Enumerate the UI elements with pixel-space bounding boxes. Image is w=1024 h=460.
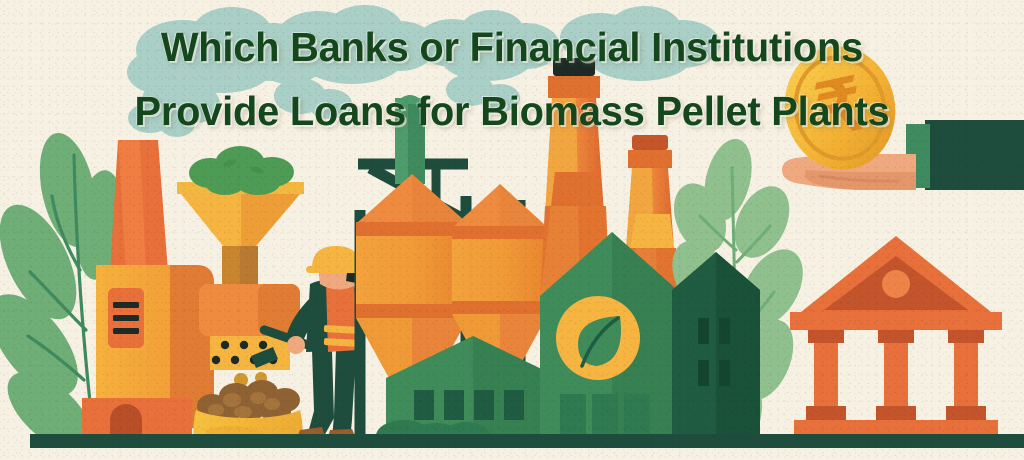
worker-hand (287, 336, 305, 354)
bank-emblem (882, 270, 910, 298)
bank-architrave (790, 312, 1002, 330)
ground-bar (30, 434, 1024, 448)
hand-sleeve (925, 120, 1024, 190)
banner-root: ₹ (0, 0, 1024, 460)
bank-columns (806, 330, 986, 420)
ground-shadow-strip (0, 448, 1024, 460)
factory-doors (560, 394, 650, 438)
house-green (668, 238, 764, 438)
bank-step-upper (794, 420, 998, 436)
mill-outlet-plate (210, 336, 290, 370)
conveyor-pipe (395, 95, 425, 184)
illustration-artboard: ₹ (0, 0, 1024, 460)
